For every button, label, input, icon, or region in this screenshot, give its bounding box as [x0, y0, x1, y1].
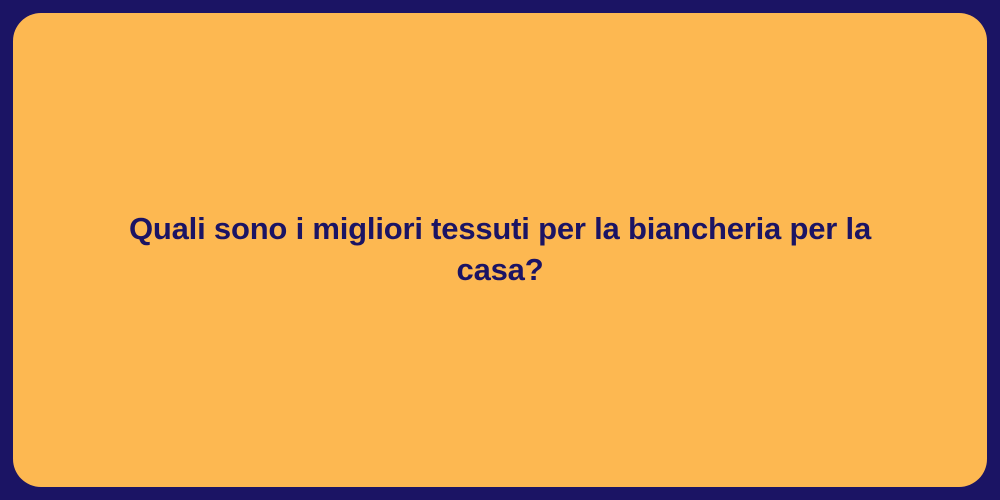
banner-heading: Quali sono i migliori tessuti per la bia… [83, 209, 917, 291]
banner-panel: Quali sono i migliori tessuti per la bia… [13, 13, 987, 487]
banner-frame: Quali sono i migliori tessuti per la bia… [0, 0, 1000, 500]
